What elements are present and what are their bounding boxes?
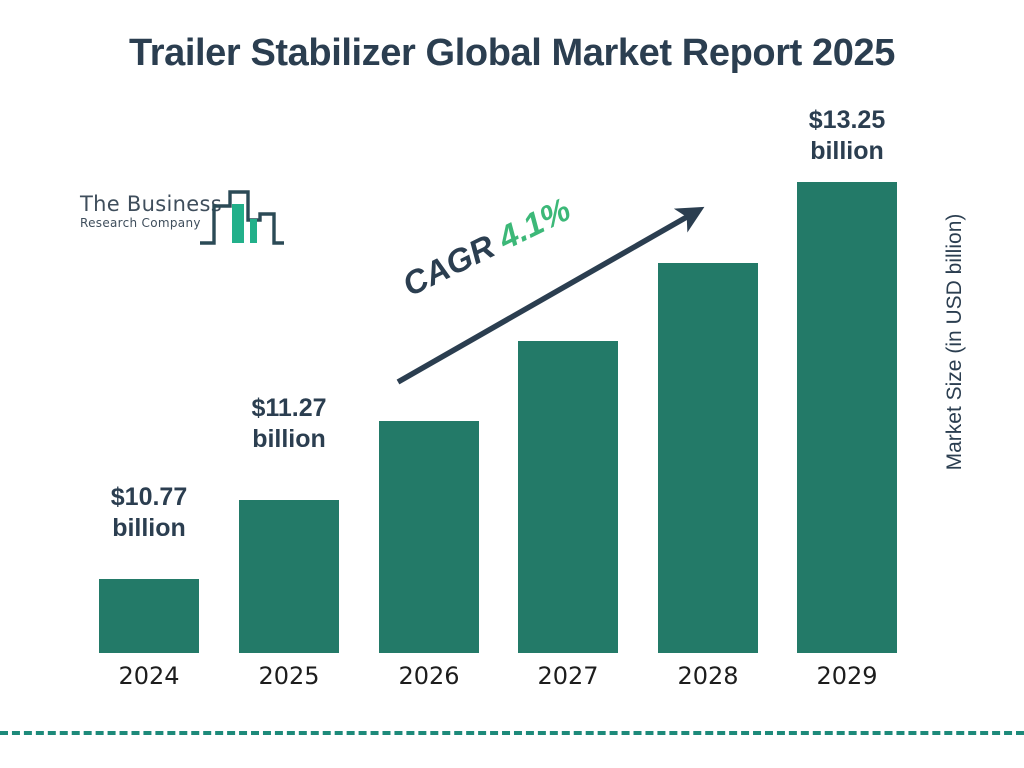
bar-2024[interactable] xyxy=(99,579,199,653)
cagr-annotation: CAGR 4.1% xyxy=(397,190,577,304)
cagr-value: 4.1% xyxy=(492,190,576,256)
chart-page: Trailer Stabilizer Global Market Report … xyxy=(0,0,1024,768)
value-label-2029-unit: billion xyxy=(777,136,917,167)
x-tick-2026: 2026 xyxy=(379,662,479,690)
x-tick-2028: 2028 xyxy=(658,662,758,690)
bar-2028[interactable] xyxy=(658,263,758,653)
y-axis-title: Market Size (in USD billion) xyxy=(943,177,967,507)
value-label-2025: $11.27 billion xyxy=(219,393,359,455)
bar-2027[interactable] xyxy=(518,341,618,653)
value-label-2029-amount: $13.25 xyxy=(777,105,917,136)
value-label-2029: $13.25 billion xyxy=(777,105,917,167)
x-tick-2029: 2029 xyxy=(797,662,897,690)
value-label-2024-amount: $10.77 xyxy=(79,482,219,513)
value-label-2025-amount: $11.27 xyxy=(219,393,359,424)
x-tick-2027: 2027 xyxy=(518,662,618,690)
value-label-2024: $10.77 billion xyxy=(79,482,219,544)
value-label-2024-unit: billion xyxy=(79,513,219,544)
value-label-2025-unit: billion xyxy=(219,424,359,455)
bar-2029[interactable] xyxy=(797,182,897,653)
x-tick-2025: 2025 xyxy=(239,662,339,690)
cagr-label: CAGR xyxy=(397,223,509,303)
bar-2025[interactable] xyxy=(239,500,339,653)
bar-2026[interactable] xyxy=(379,421,479,653)
bar-chart-plot: 2024 2025 2026 2027 2028 2029 $10.77 bil… xyxy=(0,0,1024,768)
footer-divider xyxy=(0,731,1024,735)
x-tick-2024: 2024 xyxy=(99,662,199,690)
